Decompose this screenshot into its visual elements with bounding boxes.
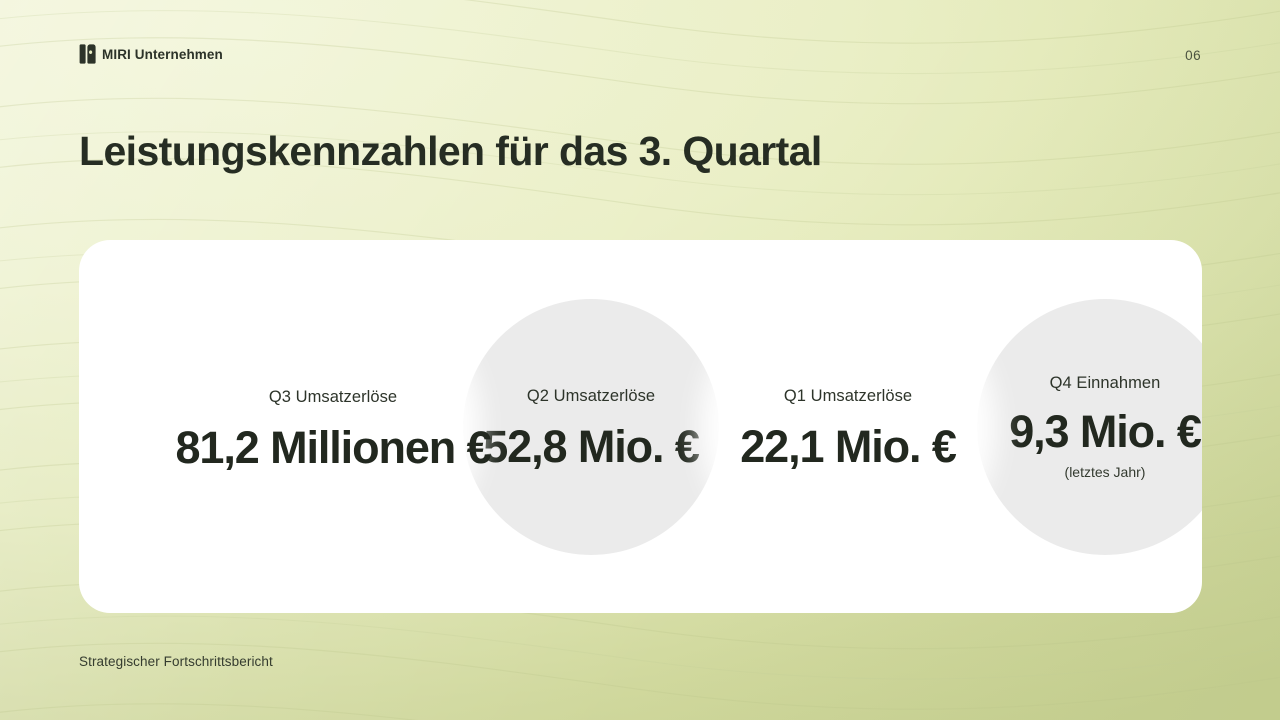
stat-circle-q3[interactable]: Q3 Umsatzerlöse 81,2 Millionen € [205,299,461,555]
stat-label: Q1 Umsatzerlöse [784,387,912,406]
miri-logo-icon [79,44,96,64]
stat-note: (letztes Jahr) [1065,464,1146,480]
stat-circle-q1[interactable]: Q1 Umsatzerlöse 22,1 Mio. € [720,299,976,555]
stat-circle-q4[interactable]: Q4 Einnahmen 9,3 Mio. € (letztes Jahr) [977,299,1202,555]
brand-name: MIRI Unternehmen [102,47,223,62]
stat-label: Q3 Umsatzerlöse [269,388,397,407]
stats-card: Q2 Umsatzerlöse 52,8 Mio. € Q4 Einnahmen… [79,240,1202,613]
page-number: 06 [1185,48,1201,63]
footer-note: Strategischer Fortschrittsbericht [79,654,273,669]
stat-value: 52,8 Mio. € [483,424,699,469]
stat-value: 9,3 Mio. € [1009,409,1201,454]
stat-value: 22,1 Mio. € [740,424,956,469]
page-title: Leistungskennzahlen für das 3. Quartal [79,128,822,176]
stat-label: Q4 Einnahmen [1050,374,1161,393]
presentation-slide: MIRI Unternehmen 06 Leistungskennzahlen … [0,0,1280,720]
stat-circle-q2[interactable]: Q2 Umsatzerlöse 52,8 Mio. € [463,299,719,555]
stat-value: 81,2 Millionen € [176,425,491,470]
stat-circle-group: Q2 Umsatzerlöse 52,8 Mio. € Q4 Einnahmen… [79,240,1202,613]
slide-header: MIRI Unternehmen [79,44,223,64]
stat-label: Q2 Umsatzerlöse [527,387,655,406]
